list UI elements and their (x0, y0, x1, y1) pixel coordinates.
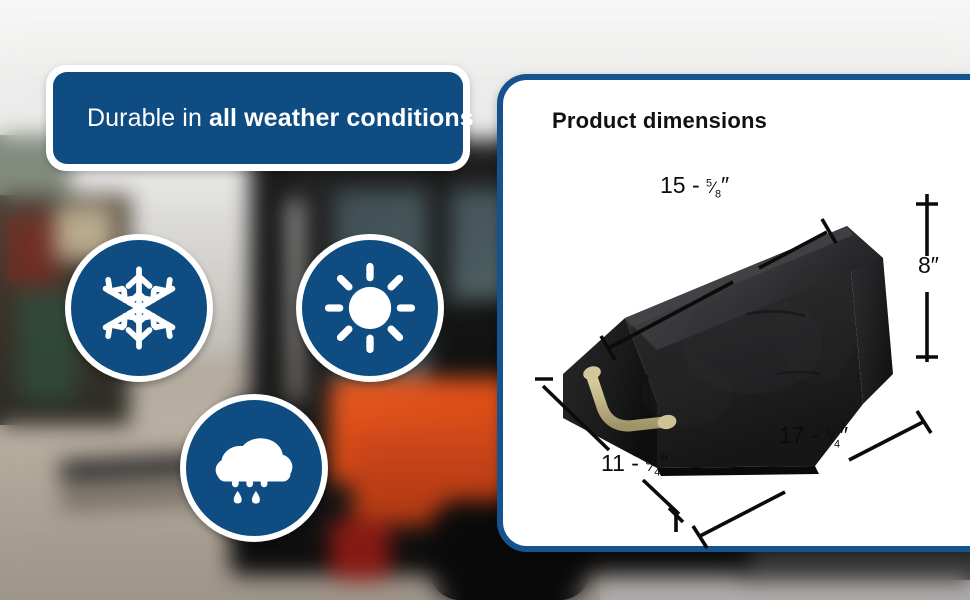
dim-11-unit: ″ (660, 450, 668, 476)
dim-15-whole: 15 - (660, 172, 706, 198)
rain-cloud-icon (206, 420, 302, 516)
dim-line-17 (700, 492, 785, 536)
dimension-label-top-length: 15 - 5⁄8″ (660, 172, 729, 200)
weather-badge-sun (296, 234, 444, 382)
dim-11-numerator: 3 (645, 455, 651, 467)
dimension-label-height: 8″ (918, 252, 939, 279)
weather-badge-snow (65, 234, 213, 382)
product-image-wheel-chock (497, 74, 970, 552)
dim-11-whole: 11 - (601, 450, 645, 476)
sun-icon (324, 262, 416, 354)
headline-regular: Durable in (87, 104, 209, 132)
dim-17-unit: ″ (840, 422, 848, 448)
dim-8-whole: 8 (918, 252, 931, 278)
headline-badge-inner: Durable in all weather conditions (53, 72, 463, 164)
dim-17-whole: 17 - (779, 422, 825, 448)
snowflake-icon (95, 264, 183, 352)
dim-15-numerator: 5 (706, 177, 712, 189)
infographic-stage: Durable in all weather conditions (0, 0, 970, 600)
dim-8-unit: ″ (931, 252, 939, 278)
dimension-label-width: 11 - 3⁄4″ (601, 450, 668, 478)
dimension-label-base-length: 17 - 3⁄4″ (779, 422, 848, 450)
headline-text: Durable in all weather conditions (53, 103, 474, 133)
dim-15-unit: ″ (721, 172, 729, 198)
headline-bold: all weather conditions (209, 104, 474, 132)
headline-badge: Durable in all weather conditions (46, 65, 470, 171)
dim-17-numerator: 3 (825, 427, 831, 439)
weather-badge-rain (180, 394, 328, 542)
